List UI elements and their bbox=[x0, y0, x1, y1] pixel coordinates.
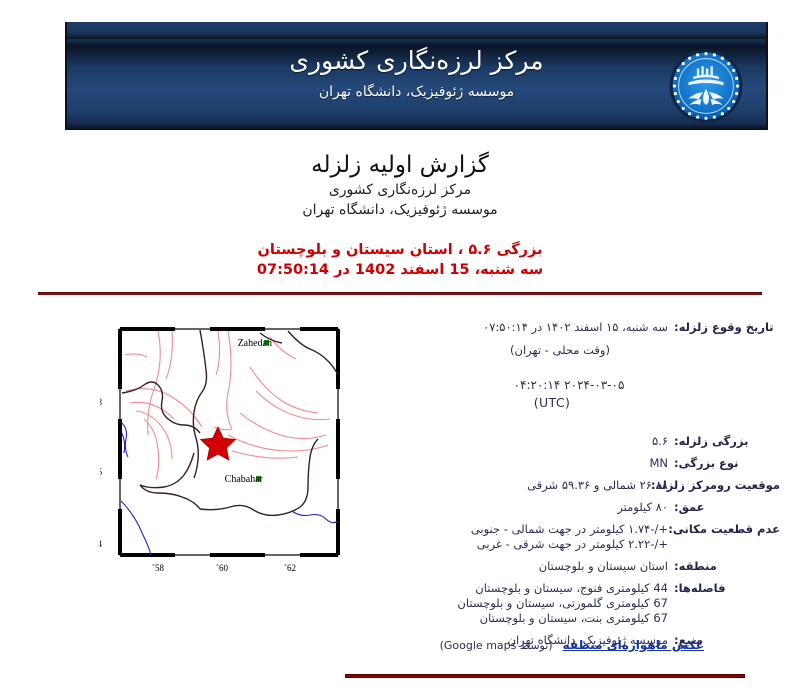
detail-row-magnitude: بزرگی زلزله: ۵.۶ bbox=[380, 434, 780, 449]
detail-value-depth: ۸۰ کیلومتر bbox=[380, 500, 668, 515]
detail-value-distances: 44 کیلومتری فنوج، سیستان و بلوچستان 67 ک… bbox=[380, 581, 668, 626]
detail-label-magnitude-type: نوع بزرگی: bbox=[668, 456, 780, 471]
detail-row-epicenter: موقعیت رومرکز زلزله: ۲۶.۸۸ شمالی و ۵۹.۳۶… bbox=[380, 478, 780, 493]
header-subtitle: موسسه ژئوفیزیک، دانشگاه تهران bbox=[67, 80, 766, 104]
header-top-strip bbox=[67, 22, 766, 39]
detail-utc-block: ۲۰۲۴-۰۳-۰۵ ۰۴:۲۰:۱۴ (UTC) bbox=[380, 376, 780, 412]
distance-item-1: 44 کیلومتری فنوج، سیستان و بلوچستان bbox=[380, 581, 668, 596]
detail-value-magnitude: ۵.۶ bbox=[380, 434, 668, 449]
detail-row-region: منطقه: استان سیستان و بلوچستان bbox=[380, 559, 780, 574]
divider-top bbox=[38, 292, 762, 295]
map-lon-tick-58: 58˚ bbox=[152, 563, 165, 573]
report-org-line-2: موسسه ژئوفیزیک، دانشگاه تهران bbox=[0, 200, 800, 220]
header-title: مرکز لرزه‌نگاری کشوری bbox=[67, 44, 766, 78]
detail-value-epicenter: ۲۶.۸۸ شمالی و ۵۹.۳۶ شرقی bbox=[380, 478, 668, 493]
report-org-line-1: مرکز لرزه‌نگاری کشوری bbox=[0, 180, 800, 200]
header-text-group: مرکز لرزه‌نگاری کشوری موسسه ژئوفیزیک، دا… bbox=[67, 44, 766, 104]
detail-label-region: منطقه: bbox=[668, 559, 780, 574]
event-headline-magnitude-region: بزرگی ۵.۶ ، استان سیستان و بلوچستان bbox=[0, 240, 800, 260]
detail-label-distances: فاصله‌ها: bbox=[668, 581, 780, 596]
detail-local-time-note: (وقت محلی - تهران) bbox=[380, 342, 780, 358]
detail-value-date: سه شنبه، ۱۵ اسفند ۱۴۰۲ در ۰۷:۵۰:۱۴ bbox=[380, 320, 668, 335]
detail-value-uncertainty: +/-۱.۷۴ کیلومتر در جهت شمالی - جنوبی +/-… bbox=[380, 522, 668, 552]
detail-value-utc: ۲۰۲۴-۰۳-۰۵ ۰۴:۲۰:۱۴ bbox=[514, 378, 625, 392]
page-title: گزارش اولیه زلزله bbox=[0, 150, 800, 180]
site-header-banner: مرکز لرزه‌نگاری کشوری موسسه ژئوفیزیک، دا… bbox=[65, 22, 768, 130]
map-city-zahedan: Zahedan bbox=[238, 338, 272, 349]
svg-text:Chabahar: Chabahar bbox=[225, 474, 264, 485]
epicenter-map: Zahedan Chabahar 28˚ 26˚ 24˚ 58˚ 60˚ 62˚ bbox=[100, 315, 365, 590]
earthquake-details-table: تاریخ وقوع زلزله: سه شنبه، ۱۵ اسفند ۱۴۰۲… bbox=[380, 320, 780, 655]
event-headline: بزرگی ۵.۶ ، استان سیستان و بلوچستان سه ش… bbox=[0, 240, 800, 280]
university-of-tehran-logo-icon bbox=[668, 48, 744, 124]
detail-label-depth: عمق: bbox=[668, 500, 780, 515]
detail-row-distances: فاصله‌ها: 44 کیلومتری فنوج، سیستان و بلو… bbox=[380, 581, 780, 626]
report-title-block: گزارش اولیه زلزله مرکز لرزه‌نگاری کشوری … bbox=[0, 150, 800, 220]
uncertainty-east-west: +/-۲.۲۲ کیلومتر در جهت شرقی - غربی bbox=[380, 537, 668, 552]
detail-label-magnitude: بزرگی زلزله: bbox=[668, 434, 780, 449]
detail-row-magnitude-type: نوع بزرگی: MN bbox=[380, 456, 780, 471]
detail-value-region: استان سیستان و بلوچستان bbox=[380, 559, 668, 574]
distance-item-3: 67 کیلومتری بنت، سیستان و بلوچستان bbox=[380, 611, 668, 626]
satellite-image-row: عکس ماهواره‌ای منطقه (توسط Google maps) bbox=[440, 638, 704, 652]
satellite-image-link[interactable]: عکس ماهواره‌ای منطقه bbox=[563, 638, 704, 652]
divider-bottom bbox=[345, 674, 745, 678]
detail-label-uncertainty: عدم قطعیت مکانی: bbox=[668, 522, 780, 537]
detail-value-magnitude-type: MN bbox=[380, 456, 668, 471]
uncertainty-north-south: +/-۱.۷۴ کیلومتر در جهت شمالی - جنوبی bbox=[380, 522, 668, 537]
map-lon-tick-62: 62˚ bbox=[284, 563, 296, 573]
map-city-chabahar: Chabahar bbox=[225, 474, 264, 485]
svg-text:Zahedan: Zahedan bbox=[238, 338, 272, 349]
map-lon-tick-60: 60˚ bbox=[216, 563, 229, 573]
detail-label-epicenter: موقعیت رومرکز زلزله: bbox=[668, 478, 780, 493]
satellite-provider-note: (توسط Google maps) bbox=[440, 639, 553, 652]
detail-row-uncertainty: عدم قطعیت مکانی: +/-۱.۷۴ کیلومتر در جهت … bbox=[380, 522, 780, 552]
detail-label-date: تاریخ وقوع زلزله: bbox=[668, 320, 780, 335]
detail-row-depth: عمق: ۸۰ کیلومتر bbox=[380, 500, 780, 515]
detail-label-utc: (UTC) bbox=[380, 394, 758, 412]
event-headline-datetime: سه شنبه، 15 اسفند 1402 در 07:50:14 bbox=[0, 260, 800, 280]
detail-row-date: تاریخ وقوع زلزله: سه شنبه، ۱۵ اسفند ۱۴۰۲… bbox=[380, 320, 780, 335]
distance-item-2: 67 کیلومتری گلمورتی، سیستان و بلوچستان bbox=[380, 596, 668, 611]
